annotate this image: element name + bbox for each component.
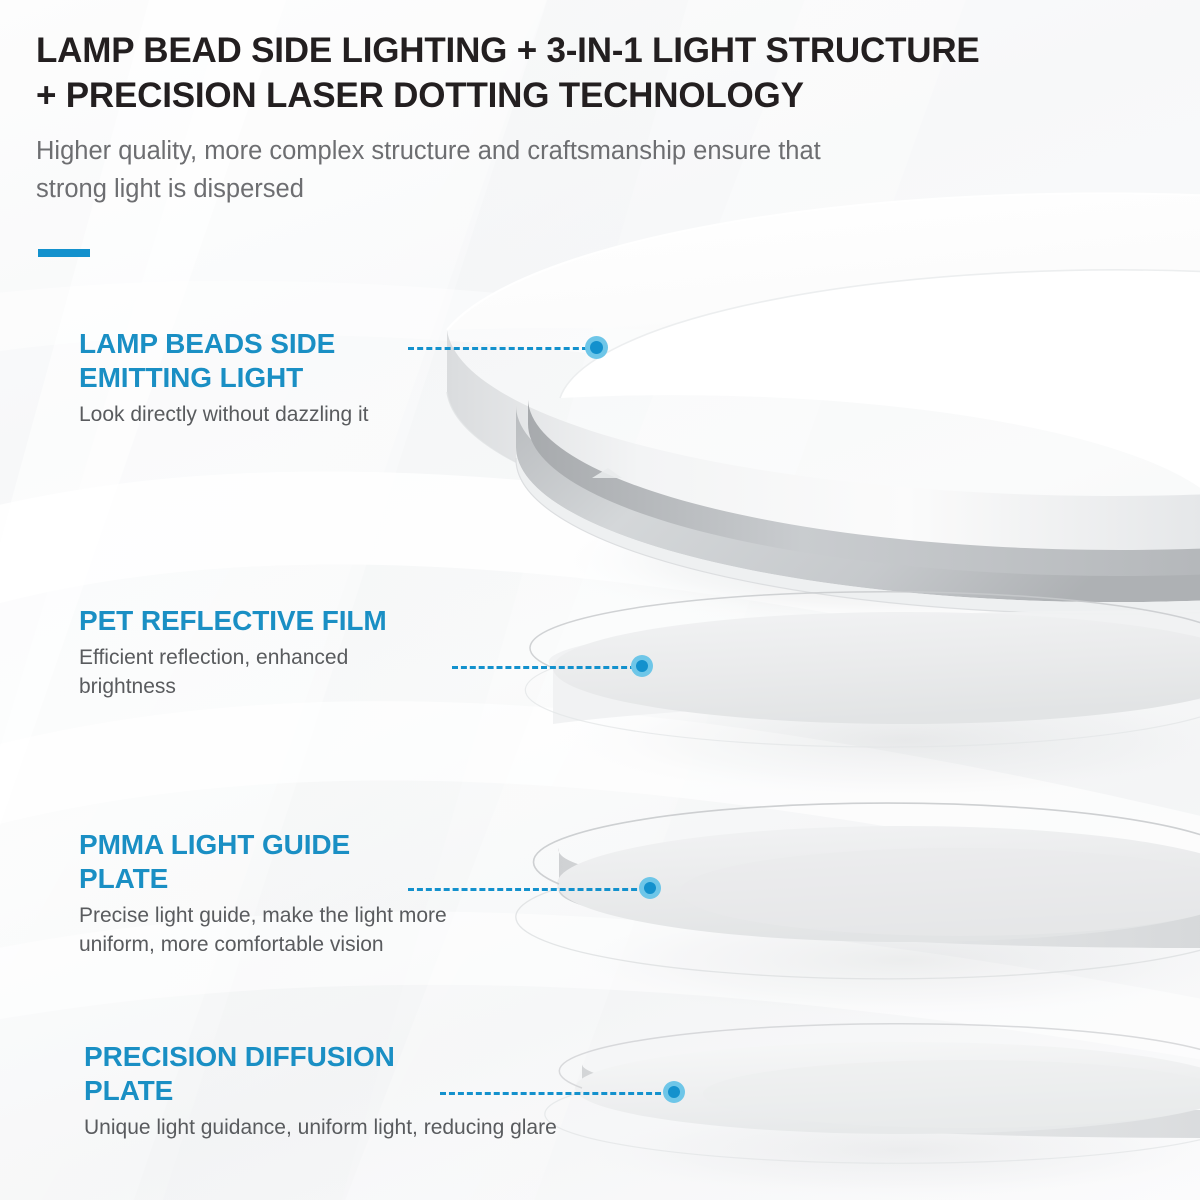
callout-description: Look directly without dazzling it: [79, 400, 368, 429]
leader-line-pet-film: [452, 666, 636, 669]
pet-reflective-film-layer: [525, 592, 1200, 802]
callout-title: LAMP BEADS SIDE EMITTING LIGHT: [79, 327, 368, 395]
callout-lamp-beads-side-emitting-light: LAMP BEADS SIDE EMITTING LIGHT Look dire…: [79, 327, 368, 429]
marker-core-icon: [590, 341, 603, 354]
marker-ring-icon: [585, 336, 608, 359]
callout-description: Unique light guidance, uniform light, re…: [84, 1113, 557, 1142]
page-subtitle: Higher quality, more complex structure a…: [36, 132, 1171, 208]
marker-dot-pmma-plate: [639, 877, 661, 899]
marker-ring-icon: [639, 877, 661, 899]
marker-dot-diffusion-plate: [663, 1081, 685, 1103]
marker-ring-icon: [663, 1081, 685, 1103]
led-chips: [523, 275, 1182, 429]
callout-description: Efficient reflection, enhanced brightnes…: [79, 643, 387, 701]
callout-description: Precise light guide, make the light more…: [79, 901, 447, 959]
callout-title: PMMA LIGHT GUIDE PLATE: [79, 828, 447, 896]
accent-divider-bar: [38, 249, 90, 257]
callout-title: PRECISION DIFFUSION PLATE: [84, 1040, 557, 1108]
callout-pmma-light-guide-plate: PMMA LIGHT GUIDE PLATE Precise light gui…: [79, 828, 447, 959]
led-ring-layer: [447, 193, 1200, 630]
marker-core-icon: [636, 660, 648, 672]
infographic-root: LAMP BEAD SIDE LIGHTING + 3-IN-1 LIGHT S…: [0, 0, 1200, 1200]
marker-ring-icon: [631, 655, 653, 677]
callout-pet-reflective-film: PET REFLECTIVE FILM Efficient reflection…: [79, 604, 387, 701]
precision-diffusion-plate-layer: [545, 1024, 1200, 1200]
marker-core-icon: [644, 882, 656, 894]
callout-title: PET REFLECTIVE FILM: [79, 604, 387, 638]
callout-precision-diffusion-plate: PRECISION DIFFUSION PLATE Unique light g…: [84, 1040, 557, 1142]
page-title: LAMP BEAD SIDE LIGHTING + 3-IN-1 LIGHT S…: [36, 28, 1171, 118]
pmma-light-guide-plate-layer: [516, 803, 1200, 1020]
marker-dot-lamp-beads: [585, 336, 608, 359]
header-block: LAMP BEAD SIDE LIGHTING + 3-IN-1 LIGHT S…: [36, 28, 1171, 208]
marker-dot-pet-film: [631, 655, 653, 677]
leader-line-lamp-beads: [408, 347, 588, 350]
marker-core-icon: [668, 1086, 680, 1098]
